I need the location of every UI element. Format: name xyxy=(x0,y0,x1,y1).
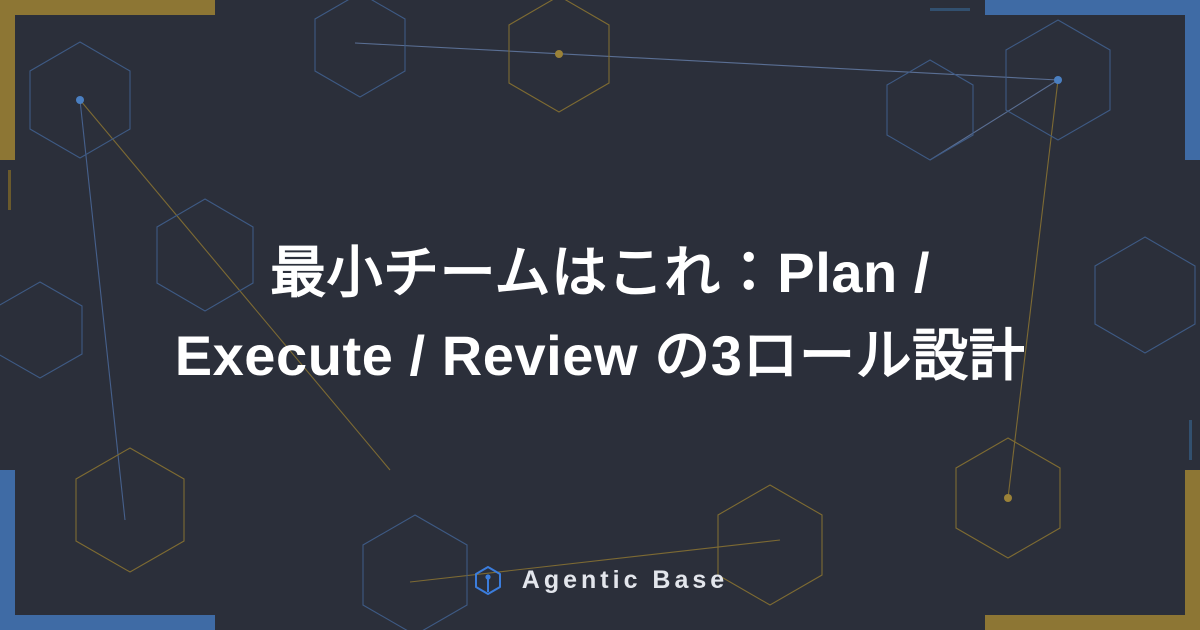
page-title: 最小チームはこれ：Plan / Execute / Review の3ロール設計 xyxy=(100,232,1100,398)
brand-footer: Agentic Base xyxy=(0,564,1200,596)
title-container: 最小チームはこれ：Plan / Execute / Review の3ロール設計 xyxy=(0,0,1200,630)
hexagon-center-dot xyxy=(485,574,490,579)
og-card: 最小チームはこれ：Plan / Execute / Review の3ロール設計… xyxy=(0,0,1200,630)
hexagon-node-icon xyxy=(472,564,504,596)
brand-name: Agentic Base xyxy=(522,566,728,595)
